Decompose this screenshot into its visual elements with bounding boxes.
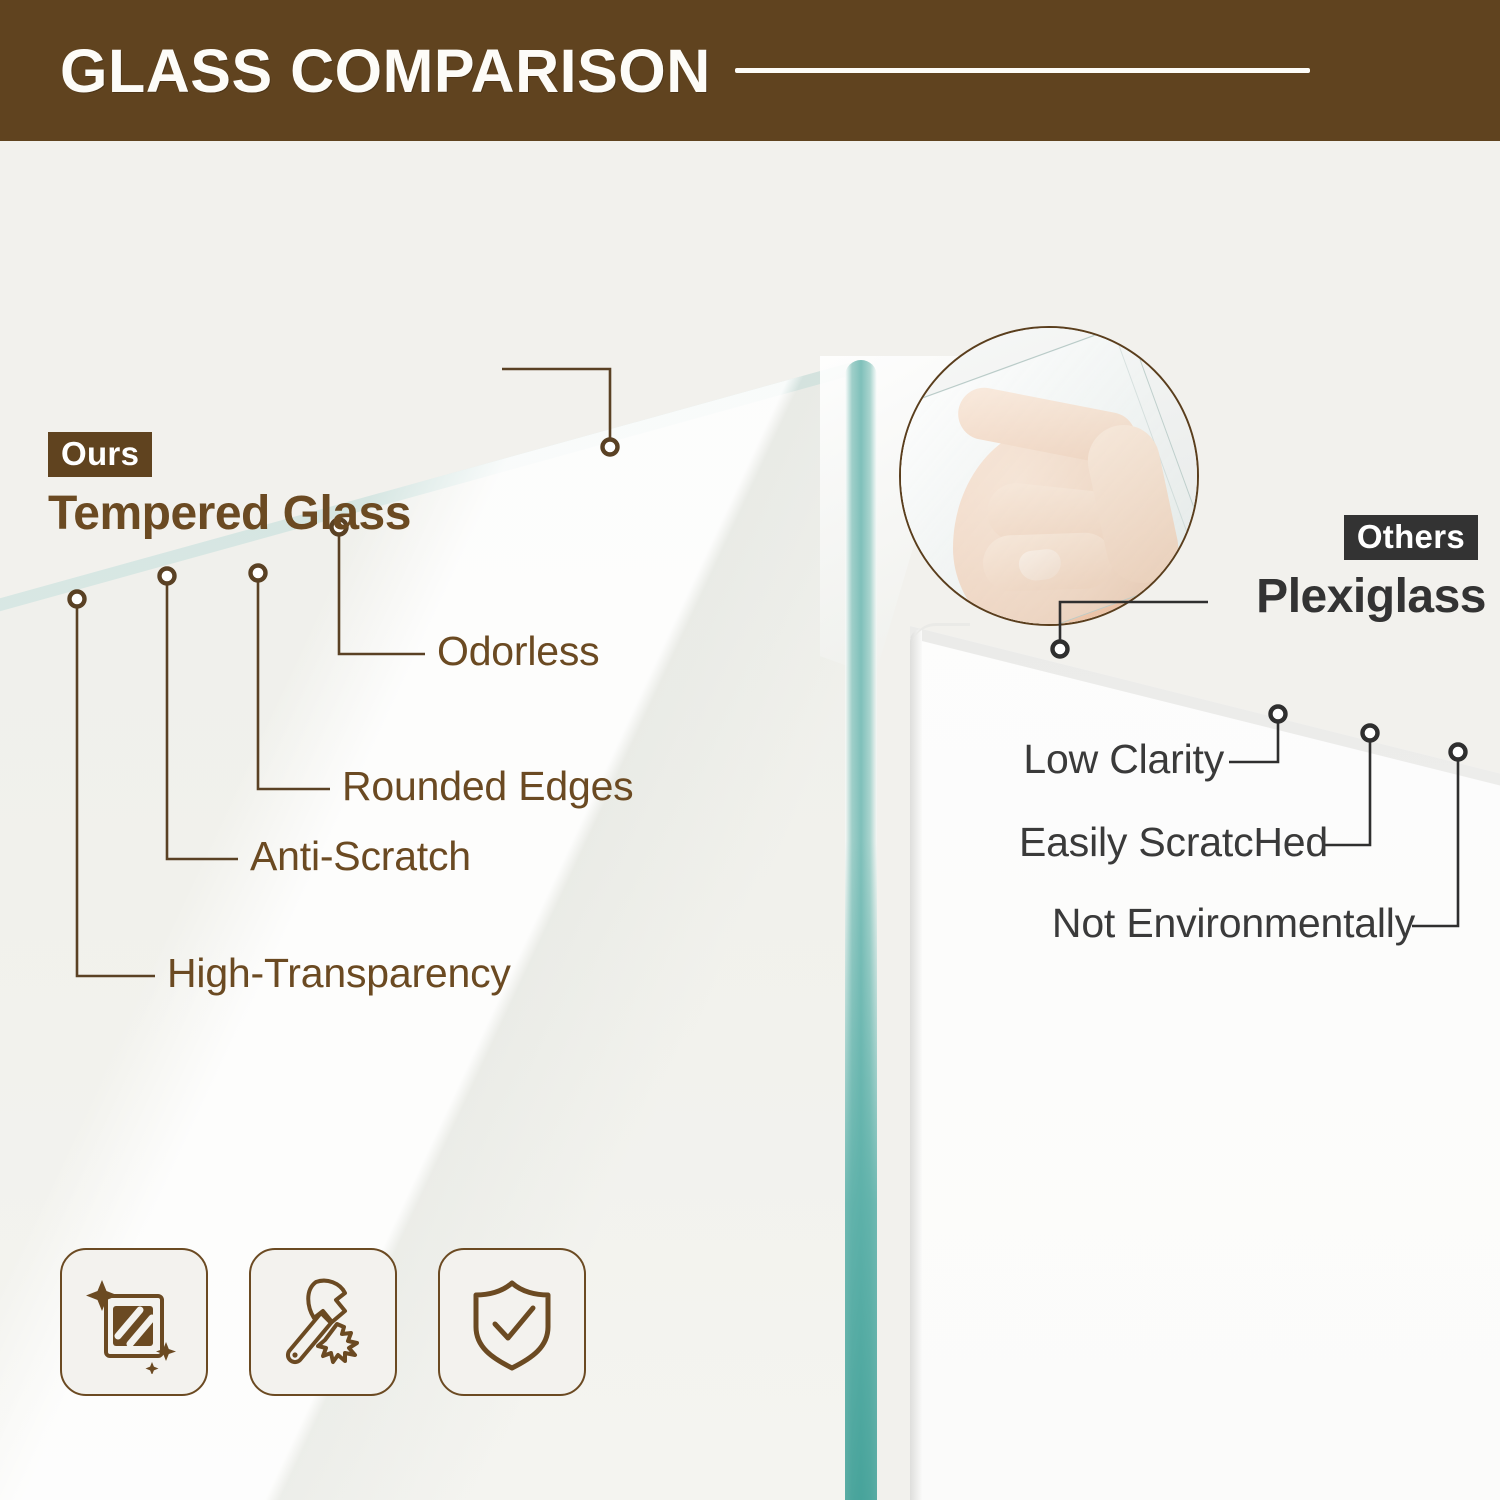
header-divider-rule (735, 68, 1310, 73)
others-badge: Others (1344, 515, 1478, 560)
sparkling-glass-icon (82, 1270, 186, 1374)
glass-thickness-edge-gradient (845, 841, 877, 1500)
drawback-label-not-environmentally: Not Environmentally (1052, 900, 1415, 947)
feature-label-anti-scratch: Anti-Scratch (250, 833, 471, 880)
feature-label-odorless: Odorless (437, 628, 599, 675)
benefit-badge-impact[interactable] (249, 1248, 397, 1396)
ours-badge: Ours (48, 432, 152, 477)
drawback-label-low-clarity: Low Clarity (1023, 736, 1224, 783)
benefit-icon-row (60, 1248, 586, 1396)
hand-holding-glass-inset (899, 326, 1199, 626)
plexiglass-rounded-corner (912, 623, 970, 653)
header-banner: GLASS COMPARISON (0, 0, 1500, 141)
plexiglass-left-edge (910, 629, 922, 1500)
benefit-badge-protection[interactable] (438, 1248, 586, 1396)
benefit-badge-clarity[interactable] (60, 1248, 208, 1396)
others-badge-wrap: Others (1344, 515, 1478, 560)
feature-label-high-transparency: High-Transparency (167, 950, 511, 997)
ours-badge-wrap: Ours (48, 432, 152, 477)
shield-check-icon (460, 1270, 564, 1374)
ours-product-name: Tempered Glass (48, 486, 411, 541)
hammer-impact-icon (271, 1270, 375, 1374)
others-product-name: Plexiglass (1256, 569, 1486, 624)
feature-label-rounded-edges: Rounded Edges (342, 763, 633, 810)
comparison-stage: Ours Tempered Glass Others Plexiglass Od… (0, 141, 1500, 1500)
drawback-label-easily-scratched: Easily ScratcHed (1019, 819, 1328, 866)
page-title: GLASS COMPARISON (60, 36, 711, 106)
